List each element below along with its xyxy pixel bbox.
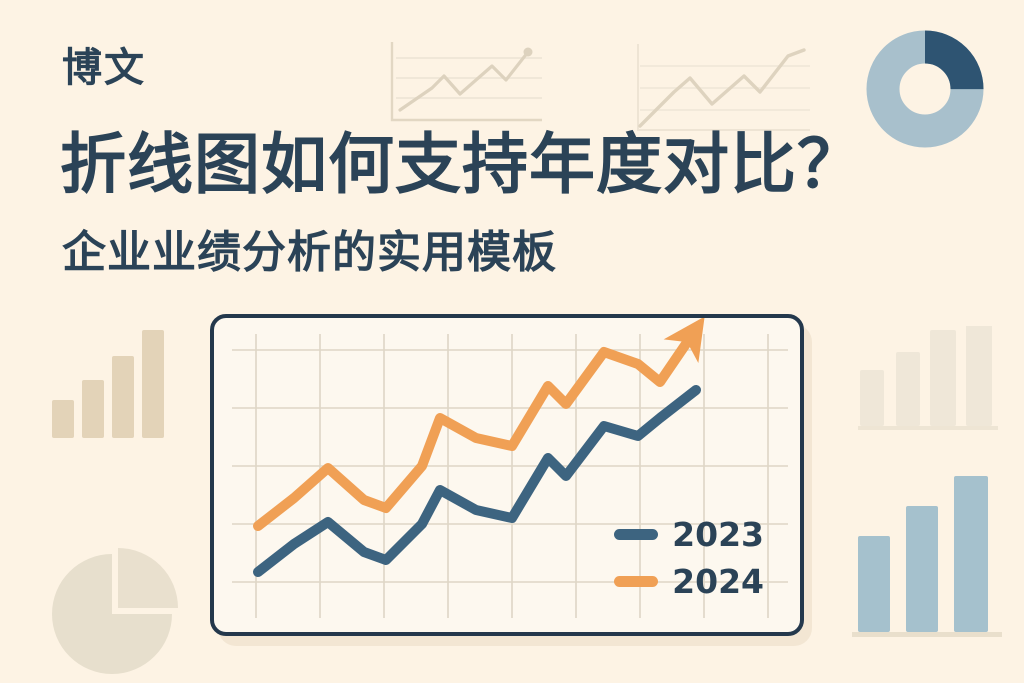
- legend-swatch-2023: [614, 529, 658, 540]
- poster-canvas: 博文 折线图如何支持年度对比？ 企业业绩分析的实用模板: [0, 0, 1024, 683]
- kicker-text: 博文: [62, 46, 146, 90]
- legend-item-2024[interactable]: 2024: [614, 565, 764, 598]
- pie-chart-icon: [44, 542, 194, 682]
- chart-card: 2023 2024: [210, 314, 804, 636]
- bar-chart-right-top-icon: [858, 326, 998, 436]
- legend-swatch-2024: [614, 576, 658, 587]
- page-subtitle: 企业业绩分析的实用模板: [62, 228, 557, 279]
- chart-legend: 2023 2024: [614, 518, 764, 598]
- legend-item-2023[interactable]: 2023: [614, 518, 764, 551]
- page-title: 折线图如何支持年度对比？: [60, 128, 864, 202]
- legend-label-2023: 2023: [672, 518, 764, 551]
- bar-chart-left-icon: [48, 318, 170, 440]
- bar-chart-right-bottom-icon: [852, 452, 1002, 640]
- legend-label-2024: 2024: [672, 565, 764, 598]
- mini-line-chart-1-icon: [378, 36, 548, 134]
- donut-chart-icon: [866, 30, 984, 148]
